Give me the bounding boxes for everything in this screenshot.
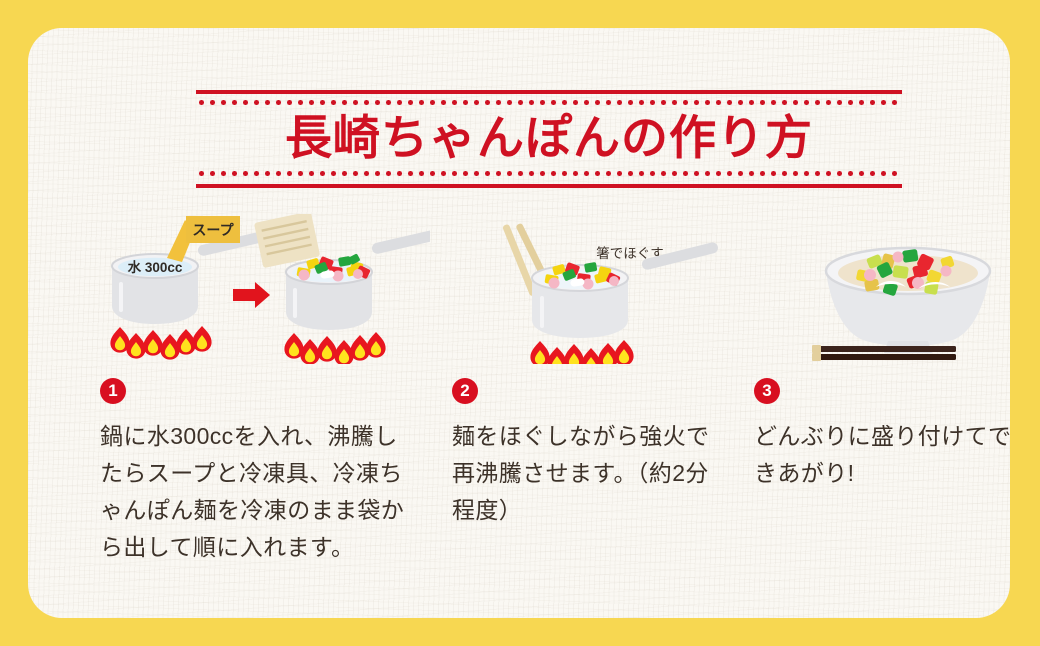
title-rule-top-dotted [196, 100, 902, 105]
flames [530, 340, 633, 364]
step-3-text: どんぶりに盛り付けてできあがり! [754, 418, 1010, 492]
soup-packet-label: スープ [192, 222, 234, 238]
flames-left [110, 326, 211, 360]
title-rule-top-solid [196, 90, 902, 94]
step-2-text: 麺をほぐしながら強火で再沸騰させます。（約2分程度） [452, 418, 724, 529]
recipe-infographic: 長崎ちゃんぽんの作り方 [0, 0, 1040, 646]
title-rule-bottom-solid [196, 184, 902, 188]
step-1-badge: 1 [100, 378, 126, 404]
page-title: 長崎ちゃんぽんの作り方 [196, 106, 902, 170]
title-block: 長崎ちゃんぽんの作り方 [196, 90, 902, 190]
step-2: 2 麺をほぐしながら強火で再沸騰させます。（約2分程度） [452, 378, 724, 529]
step-3-badge: 3 [754, 378, 780, 404]
illustration-step-1: 水 300cc スープ [90, 214, 430, 364]
pot-handle-right [371, 227, 430, 254]
pot-water-label: 水 300cc [128, 259, 183, 275]
red-right-arrow [233, 282, 270, 308]
illustration-step-1-svg: 水 300cc スープ [90, 214, 430, 364]
step-2-badge: 2 [452, 378, 478, 404]
illustration-step-2-svg: 箸でほぐす [490, 214, 740, 364]
illustration-step-3-svg [798, 233, 1010, 363]
step-1-text: 鍋に水300ccを入れ、沸騰したらスープと冷凍具、冷凍ちゃんぽん麺を冷凍のまま袋… [100, 418, 420, 566]
content-panel: 長崎ちゃんぽんの作り方 [28, 28, 1010, 618]
title-rule-bottom-dotted [196, 171, 902, 176]
illustration-step-2: 箸でほぐす [490, 214, 740, 364]
illustration-step-3 [798, 233, 1010, 363]
step-1: 1 鍋に水300ccを入れ、沸騰したらスープと冷凍具、冷凍ちゃんぽん麺を冷凍のま… [100, 378, 420, 566]
step-3: 3 どんぶりに盛り付けてできあがり! [754, 378, 1010, 492]
flames-right [284, 332, 385, 364]
